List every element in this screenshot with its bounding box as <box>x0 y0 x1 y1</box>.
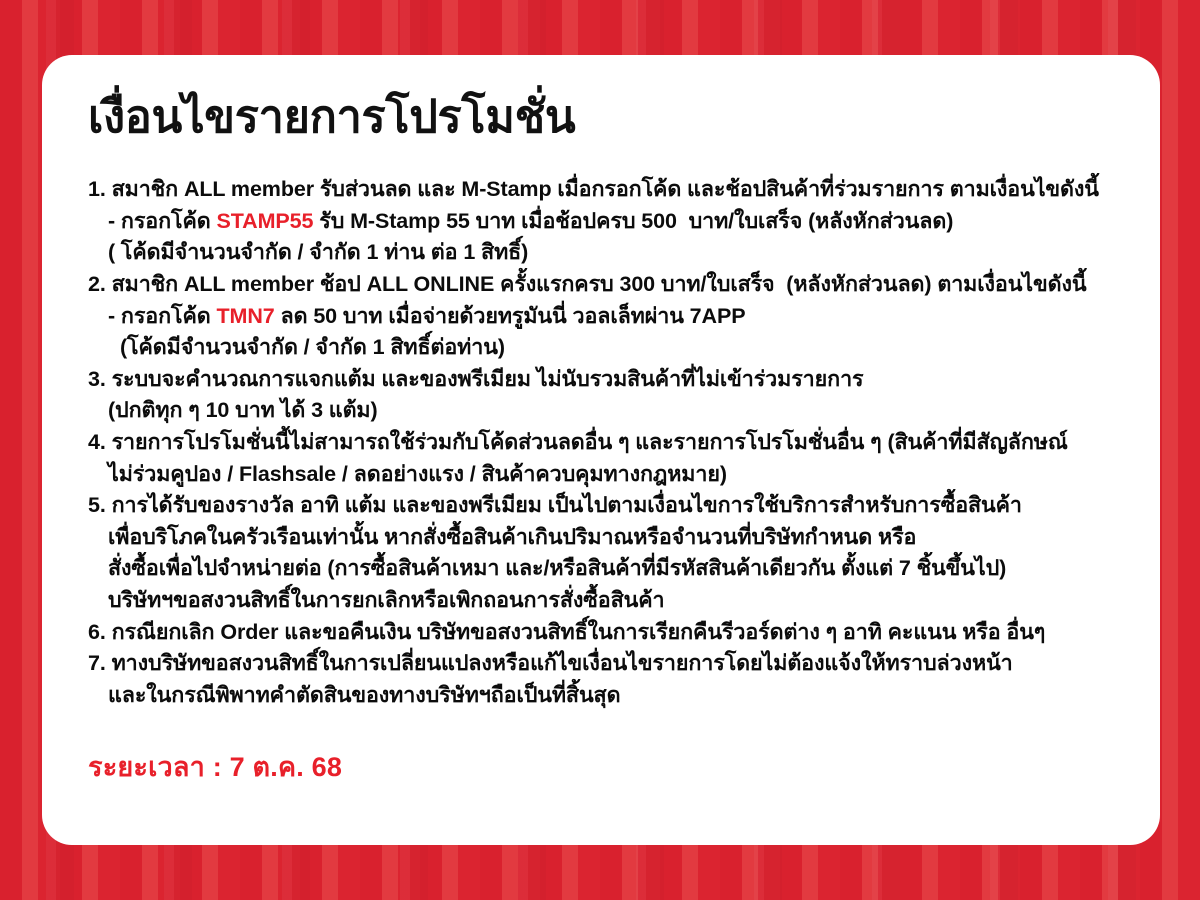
term-text: - กรอกโค้ด <box>108 209 217 233</box>
term-item: 3. ระบบจะคำนวณการแจกแต้ม และของพรีเมียม … <box>88 364 1114 427</box>
term-line: 4. รายการโปรโมชั่นนี้ไม่สามารถใช้ร่วมกับ… <box>88 427 1114 459</box>
promo-code: TMN7 <box>217 304 275 328</box>
term-line: สั่งซื้อเพื่อไปจำหน่ายต่อ (การซื้อสินค้า… <box>88 553 1114 585</box>
term-text: (ปกติทุก ๆ 10 บาท ได้ 3 แต้ม) <box>108 398 378 422</box>
term-text: 1. สมาชิก ALL member รับส่วนลด และ M-Sta… <box>88 177 1099 201</box>
term-line: ( โค้ดมีจำนวนจำกัด / จำกัด 1 ท่าน ต่อ 1 … <box>88 237 1114 269</box>
term-text: ไม่ร่วมคูปอง / Flashsale / ลดอย่างแรง / … <box>108 462 727 486</box>
term-text: เพื่อบริโภคในครัวเรือนเท่านั้น หากสั่งซื… <box>108 525 916 549</box>
page-title: เงื่อนไขรายการโปรโมชั่น <box>88 93 1114 140</box>
term-line: 3. ระบบจะคำนวณการแจกแต้ม และของพรีเมียม … <box>88 364 1114 396</box>
term-text: 5. การได้รับของรางวัล อาทิ แต้ม และของพร… <box>88 493 1022 517</box>
term-line: 2. สมาชิก ALL member ช้อป ALL ONLINE ครั… <box>88 269 1114 301</box>
term-text: 2. สมาชิก ALL member ช้อป ALL ONLINE ครั… <box>88 272 1086 296</box>
term-item: 5. การได้รับของรางวัล อาทิ แต้ม และของพร… <box>88 490 1114 616</box>
term-line: 1. สมาชิก ALL member รับส่วนลด และ M-Sta… <box>88 174 1114 206</box>
term-text: ลด 50 บาท เมื่อจ่ายด้วยทรูมันนี่ วอลเล็ท… <box>275 304 746 328</box>
term-item: 1. สมาชิก ALL member รับส่วนลด และ M-Sta… <box>88 174 1114 269</box>
terms-list: 1. สมาชิก ALL member รับส่วนลด และ M-Sta… <box>88 174 1114 711</box>
term-text: บริษัทฯขอสงวนสิทธิ์ในการยกเลิกหรือเพิกถอ… <box>108 588 664 612</box>
promo-code: STAMP55 <box>217 209 314 233</box>
term-line: 6. กรณียกเลิก Order และขอคืนเงิน บริษัทข… <box>88 617 1114 649</box>
term-text: - กรอกโค้ด <box>108 304 217 328</box>
promotion-period: ระยะเวลา : 7 ต.ค. 68 <box>88 745 1114 788</box>
term-item: 4. รายการโปรโมชั่นนี้ไม่สามารถใช้ร่วมกับ… <box>88 427 1114 490</box>
term-line: ไม่ร่วมคูปอง / Flashsale / ลดอย่างแรง / … <box>88 459 1114 491</box>
term-text: สั่งซื้อเพื่อไปจำหน่ายต่อ (การซื้อสินค้า… <box>108 556 1006 580</box>
term-line: บริษัทฯขอสงวนสิทธิ์ในการยกเลิกหรือเพิกถอ… <box>88 585 1114 617</box>
terms-card: เงื่อนไขรายการโปรโมชั่น 1. สมาชิก ALL me… <box>42 55 1160 845</box>
term-line: (ปกติทุก ๆ 10 บาท ได้ 3 แต้ม) <box>88 395 1114 427</box>
term-line: - กรอกโค้ด STAMP55 รับ M-Stamp 55 บาท เม… <box>88 206 1114 238</box>
term-text: 3. ระบบจะคำนวณการแจกแต้ม และของพรีเมียม … <box>88 367 864 391</box>
term-text: รับ M-Stamp 55 บาท เมื่อช้อปครบ 500 บาท/… <box>313 209 953 233</box>
term-text: 4. รายการโปรโมชั่นนี้ไม่สามารถใช้ร่วมกับ… <box>88 430 1068 454</box>
term-item: 2. สมาชิก ALL member ช้อป ALL ONLINE ครั… <box>88 269 1114 364</box>
term-line: และในกรณีพิพาทคำตัดสินของทางบริษัทฯถือเป… <box>88 680 1114 712</box>
term-text: (โค้ดมีจำนวนจำกัด / จำกัด 1 สิทธิ์ต่อท่า… <box>120 335 505 359</box>
term-line: - กรอกโค้ด TMN7 ลด 50 บาท เมื่อจ่ายด้วยท… <box>88 301 1114 333</box>
term-item: 6. กรณียกเลิก Order และขอคืนเงิน บริษัทข… <box>88 617 1114 649</box>
term-text: และในกรณีพิพาทคำตัดสินของทางบริษัทฯถือเป… <box>108 683 620 707</box>
term-text: ( โค้ดมีจำนวนจำกัด / จำกัด 1 ท่าน ต่อ 1 … <box>108 240 528 264</box>
term-line: 5. การได้รับของรางวัล อาทิ แต้ม และของพร… <box>88 490 1114 522</box>
term-text: 6. กรณียกเลิก Order และขอคืนเงิน บริษัทข… <box>88 620 1045 644</box>
term-text: 7. ทางบริษัทขอสงวนสิทธิ์ในการเปลี่ยนแปลง… <box>88 651 1013 675</box>
term-line: เพื่อบริโภคในครัวเรือนเท่านั้น หากสั่งซื… <box>88 522 1114 554</box>
term-line: (โค้ดมีจำนวนจำกัด / จำกัด 1 สิทธิ์ต่อท่า… <box>88 332 1114 364</box>
term-item: 7. ทางบริษัทขอสงวนสิทธิ์ในการเปลี่ยนแปลง… <box>88 648 1114 711</box>
term-line: 7. ทางบริษัทขอสงวนสิทธิ์ในการเปลี่ยนแปลง… <box>88 648 1114 680</box>
